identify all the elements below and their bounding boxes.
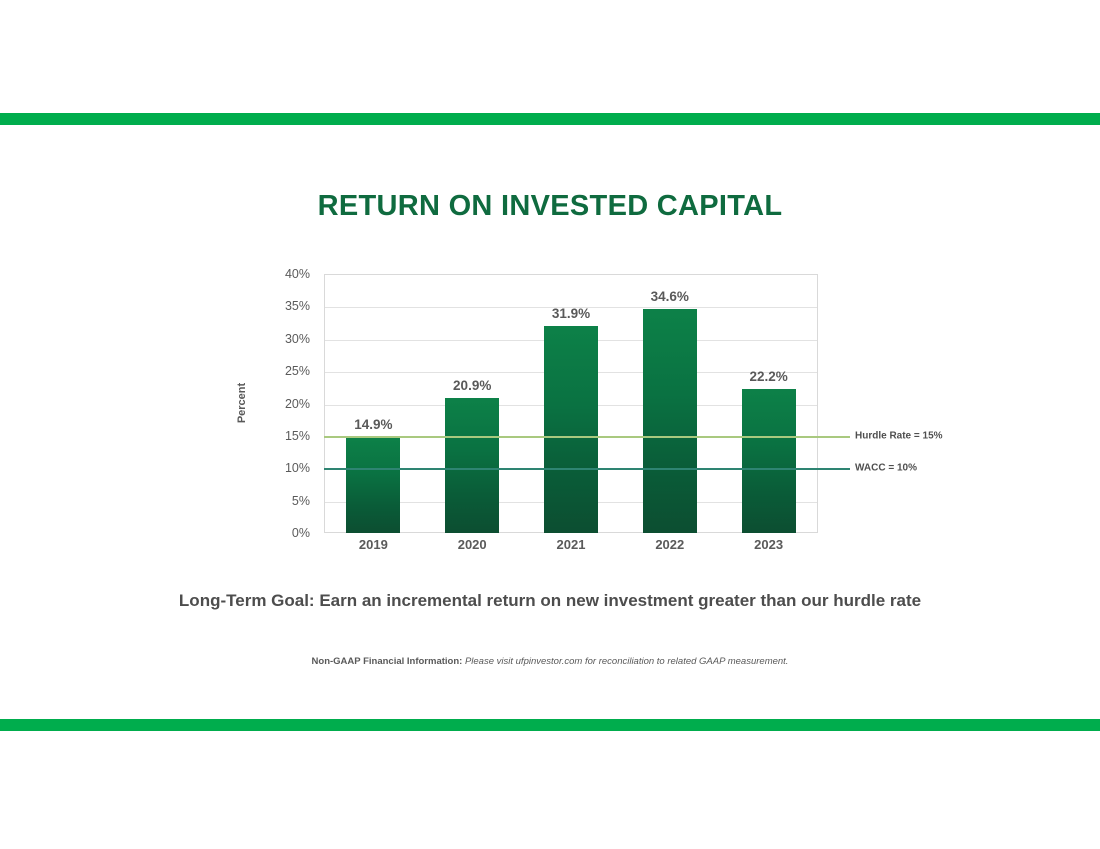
footnote: Non-GAAP Financial Information: Please v…	[0, 656, 1100, 667]
bar-value-label: 31.9%	[526, 306, 616, 321]
reference-line	[324, 468, 850, 470]
bar	[445, 398, 499, 533]
bar-value-label: 22.2%	[724, 369, 814, 384]
bar	[346, 437, 400, 533]
y-axis-tick-label: 10%	[250, 461, 310, 475]
y-axis-tick-label: 25%	[250, 364, 310, 378]
bar-value-label: 14.9%	[328, 417, 418, 432]
y-axis-tick-label: 0%	[250, 526, 310, 540]
bar	[742, 389, 796, 533]
bar	[544, 326, 598, 533]
x-axis-tick-label: 2019	[328, 537, 418, 552]
footnote-body: Please visit ufpinvestor.com for reconci…	[465, 656, 789, 667]
x-axis-tick-label: 2020	[427, 537, 517, 552]
x-axis-tick-label: 2022	[625, 537, 715, 552]
y-axis-tick-label: 15%	[250, 429, 310, 443]
y-axis-tick-label: 35%	[250, 299, 310, 313]
reference-line-label: Hurdle Rate = 15%	[855, 430, 943, 441]
y-axis-tick-label: 20%	[250, 397, 310, 411]
bar	[643, 309, 697, 533]
y-axis-tick-label: 30%	[250, 332, 310, 346]
reference-line-label: WACC = 10%	[855, 463, 917, 474]
bottom-brand-rule	[0, 719, 1100, 731]
reference-line	[324, 436, 850, 438]
footnote-label: Non-GAAP Financial Information:	[312, 656, 463, 667]
bar-value-label: 20.9%	[427, 378, 517, 393]
top-brand-rule	[0, 113, 1100, 125]
x-axis-tick-label: 2023	[724, 537, 814, 552]
y-axis-tick-label: 40%	[250, 267, 310, 281]
long-term-goal-text: Long-Term Goal: Earn an incremental retu…	[0, 591, 1100, 611]
roic-bar-chart: Percent 0%5%10%15%20%25%30%35%40% 14.9%2…	[236, 255, 976, 565]
bar-value-label: 34.6%	[625, 289, 715, 304]
page-title: RETURN ON INVESTED CAPITAL	[0, 190, 1100, 223]
y-axis-label: Percent	[236, 383, 248, 423]
x-axis-tick-label: 2021	[526, 537, 616, 552]
y-axis-tick-label: 5%	[250, 494, 310, 508]
